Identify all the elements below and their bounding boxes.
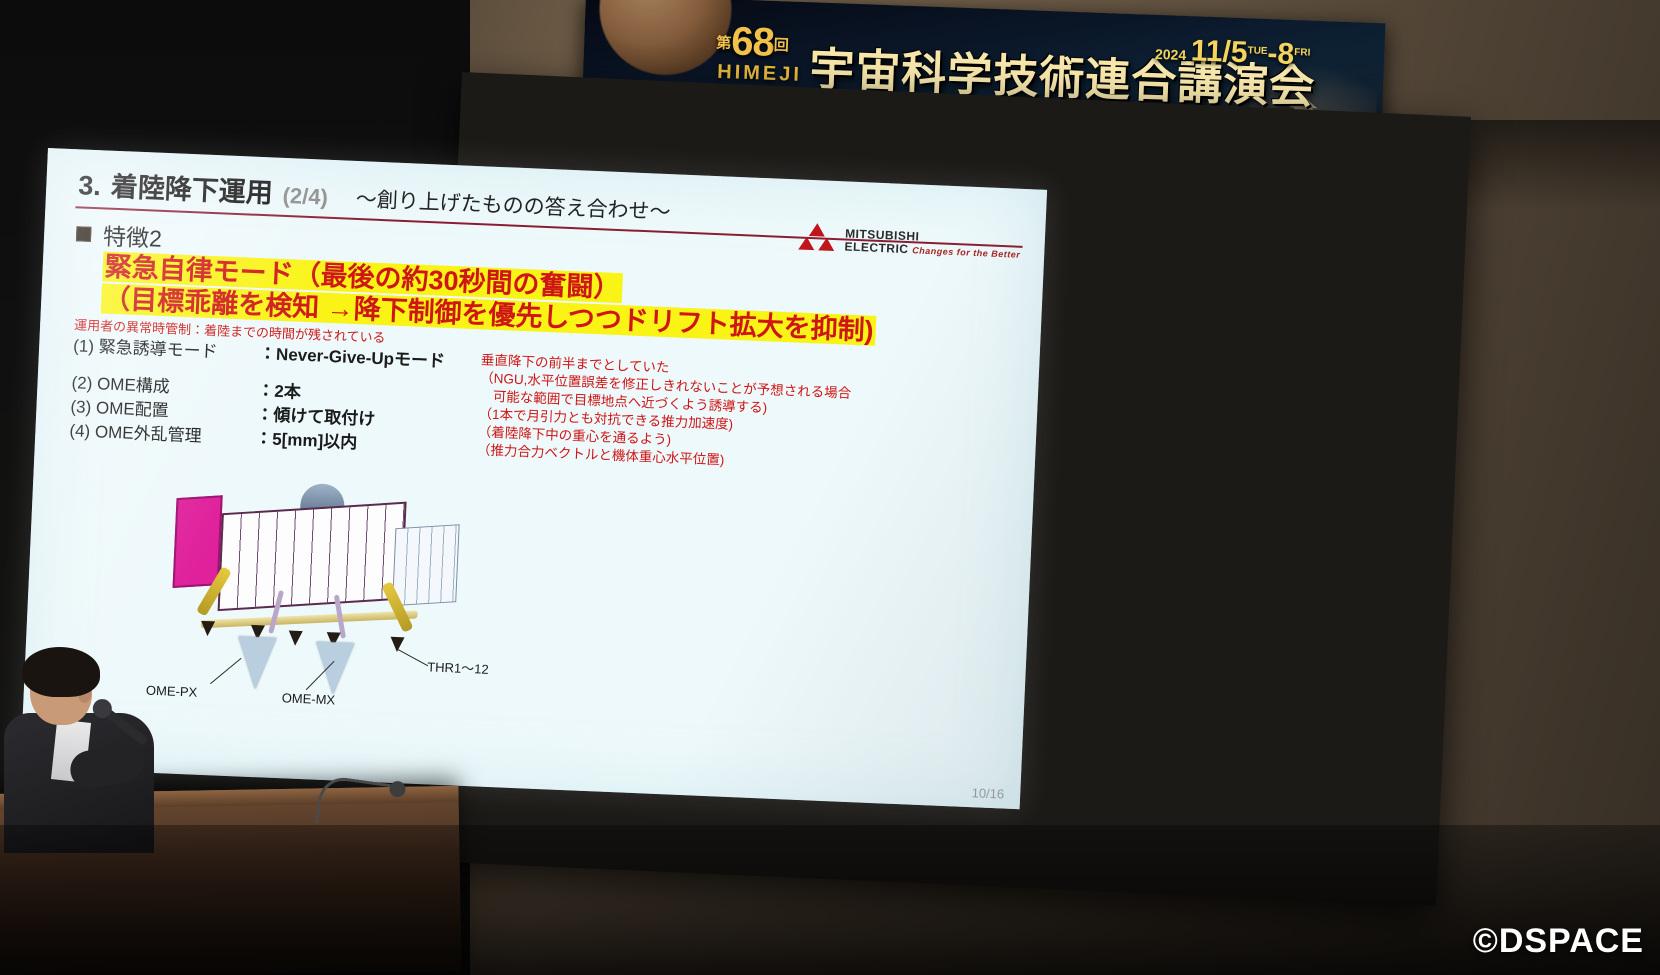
bullet-square-icon <box>76 226 92 242</box>
banner-end-date: -8 <box>1267 37 1295 71</box>
logo-tagline: Changes for the Better <box>912 245 1020 260</box>
slide-page-of: (2/4) <box>282 183 328 211</box>
item-label: OME外乱管理 <box>95 422 202 445</box>
thruster-nozzle <box>200 621 215 637</box>
speaker-person <box>8 655 178 845</box>
auditorium-scene: 第68回 HIMEJI 宇宙科学技術連合講演会 2024 11/5TUE-8FR… <box>0 0 1660 975</box>
thruster-nozzle <box>288 631 303 647</box>
banner-kai: 回 <box>773 37 789 55</box>
solar-panel-left <box>173 495 223 588</box>
logo-line2: ELECTRIC <box>844 239 909 256</box>
banner-start-date: 11/5 <box>1190 34 1248 69</box>
item-index: (4) <box>69 421 91 441</box>
lander-diagram-main: THR1～12 OME-PX OME-MX <box>171 494 483 776</box>
watermark: ©DSPACE <box>1473 922 1644 961</box>
mitsubishi-wordmark: MITSUBISHI ELECTRIC Changes for the Bett… <box>844 227 1021 260</box>
banner-start-weekday: TUE <box>1247 45 1267 57</box>
slide-section-number: 3. <box>78 170 102 202</box>
mitsubishi-diamond-icon <box>797 220 837 257</box>
banner-edition: 第68回 <box>716 21 790 64</box>
ome-engine-mx <box>314 642 354 696</box>
foreground-shadow <box>0 825 1660 975</box>
item-label: OME配置 <box>96 398 170 420</box>
ome-engine-px <box>236 636 276 690</box>
item-value: ：2本 <box>257 379 302 405</box>
item-index: (2) <box>71 373 93 393</box>
item-label: 緊急誘導モード <box>98 337 218 361</box>
solar-panel-right <box>392 524 460 606</box>
banner-end-weekday: FRI <box>1294 47 1311 59</box>
banner-number: 68 <box>731 19 775 65</box>
lander-body <box>218 502 407 612</box>
thruster-label: THR1～12 <box>427 656 489 678</box>
lander-deck <box>201 610 418 628</box>
moon-graphic <box>597 0 734 77</box>
slide-bullet-label: 特徴2 <box>102 217 162 253</box>
right-notes-column: 垂直降下の前半までとしていた （NGU,水平位置誤差を修正しきれないことが予想さ… <box>477 351 1019 483</box>
slide-page-number: 10/16 <box>971 785 1004 801</box>
ome-mx-label: OME-MX <box>281 690 335 707</box>
banner-date: 2024 11/5TUE-8FRI <box>1155 33 1311 73</box>
thruster-leader-line <box>398 649 428 666</box>
slide-title: 着陸降下運用 <box>110 165 274 211</box>
banner-dai: 第 <box>716 35 732 53</box>
banner-year: 2024 <box>1155 46 1187 63</box>
item-label: OME構成 <box>97 374 171 396</box>
speaker-hair <box>22 647 100 697</box>
item-value: ：5[mm]以内 <box>255 427 358 455</box>
items-column: (1) 緊急誘導モード ：Never-Give-Upモード (2) OME構成 … <box>69 334 482 460</box>
item-index: (1) <box>73 336 95 356</box>
item-index: (3) <box>70 397 92 417</box>
